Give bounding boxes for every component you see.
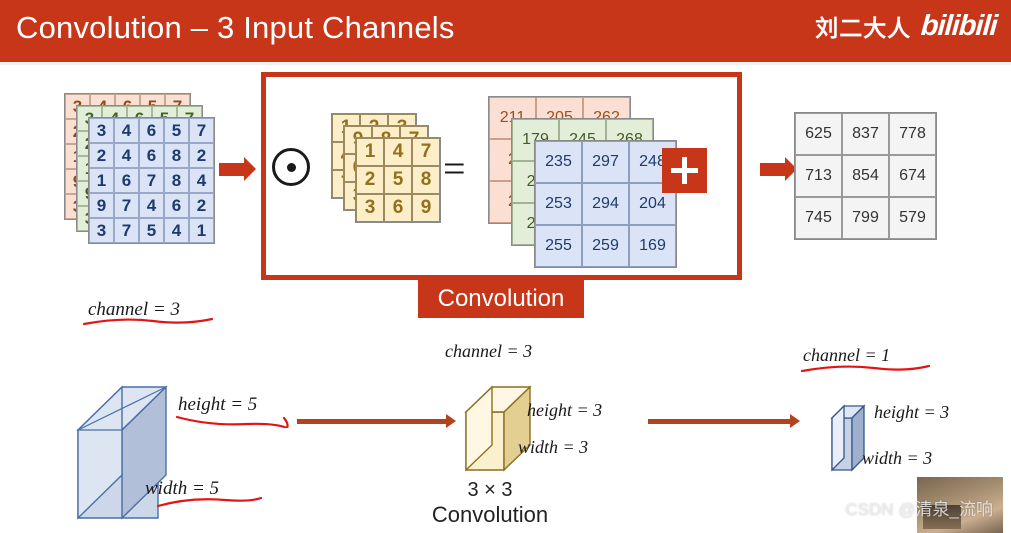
csdn-watermark: CSDN @清泉_流响 <box>845 495 993 520</box>
kernel-cell: 7 <box>412 138 440 166</box>
result-plane-blue: 235297248253294204255259169 <box>534 140 677 268</box>
brand-block: 刘二大人 bilibili <box>815 9 997 43</box>
result-cell: 253 <box>535 183 582 225</box>
output-cell: 778 <box>889 113 936 155</box>
page-title: Convolution – 3 Input Channels <box>16 10 455 46</box>
matrix-cell: 5 <box>164 118 189 143</box>
matrix-cell: 8 <box>164 143 189 168</box>
matrix-cell: 6 <box>139 118 164 143</box>
input-width-underline-icon <box>155 496 265 510</box>
arrow-conv-to-output <box>760 163 786 176</box>
matrix-cell: 8 <box>164 168 189 193</box>
matrix-cell: 7 <box>114 218 139 243</box>
result-cell: 169 <box>629 225 676 267</box>
arrow-input-to-conv <box>219 163 245 176</box>
output-channel-underline-icon <box>800 363 932 375</box>
kernel-cell: 1 <box>356 138 384 166</box>
output-cell: 625 <box>795 113 842 155</box>
output-cell: 579 <box>889 197 936 239</box>
matrix-cell: 1 <box>89 168 114 193</box>
matrix-cell: 4 <box>139 193 164 218</box>
matrix-cell: 4 <box>164 218 189 243</box>
arrow-kernel-block-to-output-block <box>648 419 791 424</box>
kernel-caption-line2: Convolution <box>415 502 565 528</box>
kernel-cell: 9 <box>412 194 440 222</box>
matrix-cell: 9 <box>89 193 114 218</box>
kernel-cell: 6 <box>384 194 412 222</box>
matrix-cell: 7 <box>139 168 164 193</box>
output-cell: 745 <box>795 197 842 239</box>
header-divider <box>0 62 1011 65</box>
convolution-banner-label: Convolution <box>418 280 584 318</box>
result-cell: 259 <box>582 225 629 267</box>
matrix-cell: 2 <box>89 143 114 168</box>
arrow-input-block-to-kernel-block <box>297 419 447 424</box>
page-header: Convolution – 3 Input Channels 刘二大人 bili… <box>0 0 1011 62</box>
matrix-cell: 4 <box>189 168 214 193</box>
output-cell: 837 <box>842 113 889 155</box>
input-plane-blue: 3465724682167849746237541 <box>88 117 215 244</box>
matrix-cell: 5 <box>139 218 164 243</box>
matrix-cell: 6 <box>164 193 189 218</box>
kernel-height-label: height = 3 <box>527 400 602 421</box>
kernel-caption-line1: 3 × 3 <box>425 479 555 502</box>
result-cell: 235 <box>535 141 582 183</box>
result-cell: 297 <box>582 141 629 183</box>
result-cell: 255 <box>535 225 582 267</box>
equals-operator: = <box>443 149 466 189</box>
kernel-cell: 2 <box>356 166 384 194</box>
output-cell: 854 <box>842 155 889 197</box>
input-channel-underline-icon <box>81 316 216 328</box>
kernel-width-label: width = 3 <box>518 437 588 458</box>
matrix-cell: 1 <box>189 218 214 243</box>
output-matrix: 625837778713854674745799579 <box>794 112 937 240</box>
matrix-cell: 6 <box>139 143 164 168</box>
kernel-cell: 4 <box>384 138 412 166</box>
output-cell: 713 <box>795 155 842 197</box>
matrix-cell: 4 <box>114 118 139 143</box>
kernel-cell: 5 <box>384 166 412 194</box>
kernel-channel-label: channel = 3 <box>445 341 532 362</box>
output-height-label: height = 3 <box>874 402 949 423</box>
matrix-cell: 2 <box>189 193 214 218</box>
matrix-cell: 4 <box>114 143 139 168</box>
matrix-cell: 6 <box>114 168 139 193</box>
matrix-cell: 3 <box>89 218 114 243</box>
matrix-cell: 2 <box>189 143 214 168</box>
bilibili-logo: bilibili <box>920 10 998 43</box>
output-cell: 799 <box>842 197 889 239</box>
hadamard-operator-icon <box>272 148 310 186</box>
matrix-cell: 7 <box>189 118 214 143</box>
matrix-cell: 7 <box>114 193 139 218</box>
matrix-cell: 3 <box>89 118 114 143</box>
plus-operator-icon <box>662 148 707 193</box>
input-height-underline-icon <box>175 412 295 428</box>
output-width-label: width = 3 <box>862 448 932 469</box>
result-cell: 294 <box>582 183 629 225</box>
kernel-cell: 3 <box>356 194 384 222</box>
kernel-plane-3: 147258369 <box>355 137 441 223</box>
kernel-cell: 8 <box>412 166 440 194</box>
output-cell: 674 <box>889 155 936 197</box>
brand-name-label: 刘二大人 <box>815 9 911 43</box>
